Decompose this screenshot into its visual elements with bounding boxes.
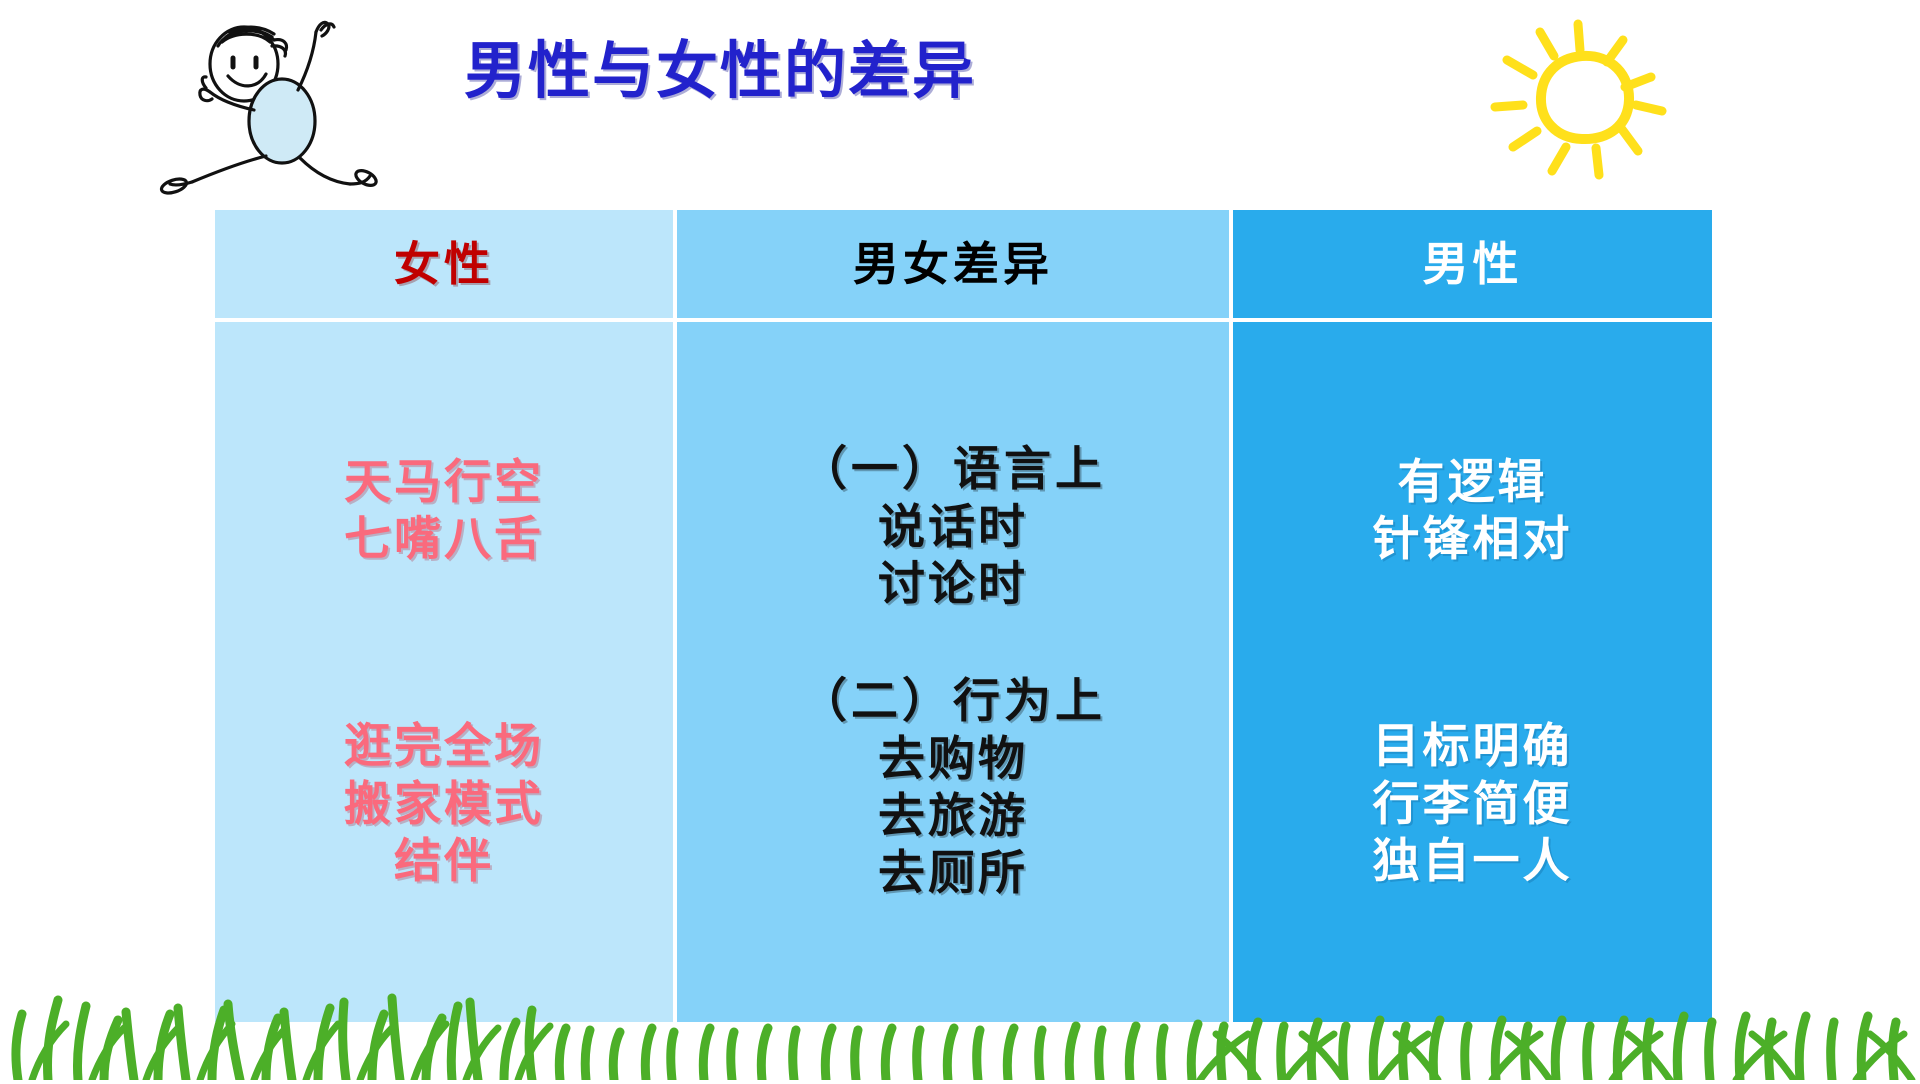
difference-item: 说话时: [878, 499, 1028, 556]
female-trait: 逛完全场: [344, 718, 544, 775]
grass-border-decoration: [0, 984, 1920, 1080]
column-header-female: 女性: [394, 241, 494, 287]
body-cell-male: 有逻辑 针锋相对 目标明确 行李简便 独自一人: [1233, 322, 1712, 1022]
male-trait: 针锋相对: [1373, 511, 1573, 568]
column-header-difference: 男女差异: [853, 241, 1053, 287]
difference-item: 去厕所: [878, 845, 1028, 902]
female-group-language: 天马行空 七嘴八舌: [344, 454, 544, 569]
male-group-language: 有逻辑 针锋相对: [1373, 454, 1573, 569]
difference-item: 去旅游: [878, 788, 1028, 845]
slide-canvas: 男性与女性的差异: [0, 0, 1920, 1080]
table-body-row: 天马行空 七嘴八舌 逛完全场 搬家模式 结伴 （一）语言上 说话时: [215, 322, 1712, 1022]
column-header-male: 男性: [1423, 241, 1523, 287]
body-cell-female: 天马行空 七嘴八舌 逛完全场 搬家模式 结伴: [215, 322, 677, 1022]
running-stick-figure-icon: [148, 6, 378, 201]
difference-item: 去购物: [878, 731, 1028, 788]
male-trait: 有逻辑: [1398, 454, 1548, 511]
body-cell-difference: （一）语言上 说话时 讨论时 （二）行为上 去购物 去旅游 去厕所: [677, 322, 1233, 1022]
gender-differences-table: 女性 男女差异 男性 天马行空 七嘴八舌 逛完全场 搬家: [215, 210, 1712, 1022]
difference-section-heading: （一）语言上: [800, 441, 1106, 498]
table-header-row: 女性 男女差异 男性: [215, 210, 1712, 322]
difference-section-heading: （二）行为上: [800, 673, 1106, 730]
female-trait: 搬家模式: [344, 776, 544, 833]
male-group-behavior: 目标明确 行李简便 独自一人: [1373, 718, 1573, 890]
header-cell-female: 女性: [215, 210, 677, 322]
male-trait: 目标明确: [1373, 718, 1573, 775]
sun-icon: [1470, 4, 1700, 189]
difference-group-behavior: （二）行为上 去购物 去旅游 去厕所: [800, 673, 1106, 902]
difference-item: 讨论时: [878, 556, 1028, 613]
male-trait: 独自一人: [1373, 833, 1573, 890]
female-trait: 七嘴八舌: [344, 511, 544, 568]
female-group-behavior: 逛完全场 搬家模式 结伴: [344, 718, 544, 890]
difference-group-language: （一）语言上 说话时 讨论时: [800, 441, 1106, 613]
male-trait: 行李简便: [1373, 776, 1573, 833]
header-cell-difference: 男女差异: [677, 210, 1233, 322]
female-trait: 结伴: [394, 833, 494, 890]
header-cell-male: 男性: [1233, 210, 1712, 322]
female-trait: 天马行空: [344, 454, 544, 511]
page-title: 男性与女性的差异: [380, 38, 1060, 103]
